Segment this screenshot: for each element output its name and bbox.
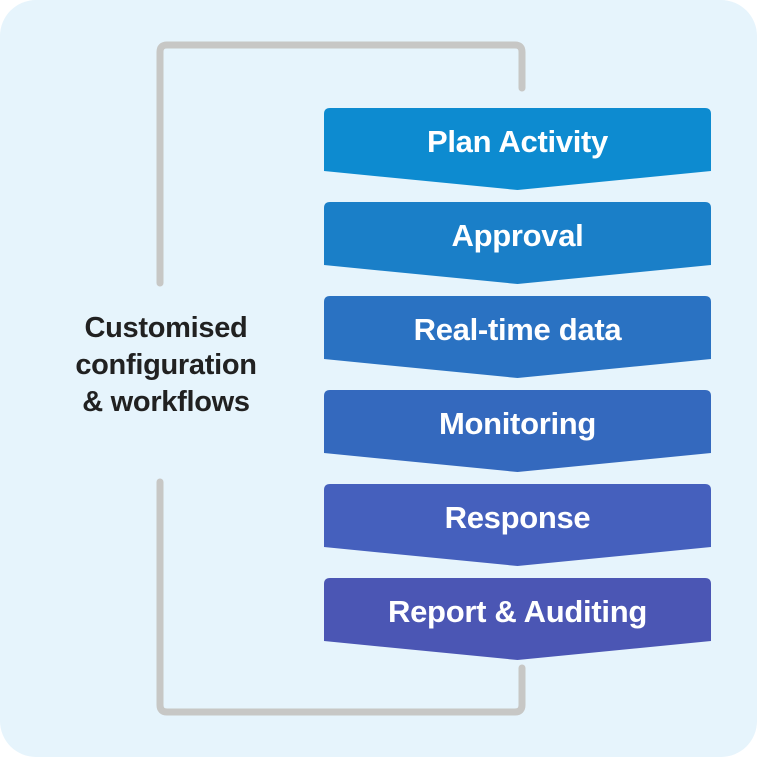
flow-step-label: Plan Activity bbox=[427, 126, 608, 157]
diagram-canvas: Customised configuration & workflows Pla… bbox=[0, 0, 757, 757]
flow-step-plan-activity[interactable]: Plan Activity bbox=[324, 108, 711, 190]
page-title: Customised configuration & workflows bbox=[28, 310, 304, 420]
flow-step-real-time-data[interactable]: Real-time data bbox=[324, 296, 711, 378]
flow-step-report-auditing[interactable]: Report & Auditing bbox=[324, 578, 711, 660]
flow-step-monitoring[interactable]: Monitoring bbox=[324, 390, 711, 472]
flow-step-label: Report & Auditing bbox=[388, 596, 647, 627]
flow-step-approval[interactable]: Approval bbox=[324, 202, 711, 284]
flow-step-label: Real-time data bbox=[414, 314, 622, 345]
flow-step-response[interactable]: Response bbox=[324, 484, 711, 566]
flow-step-label: Approval bbox=[452, 220, 584, 251]
flow-step-label: Monitoring bbox=[439, 408, 596, 439]
flow-step-label: Response bbox=[445, 502, 591, 533]
process-flow-list: Plan Activity Approval Real-time data Mo… bbox=[324, 108, 711, 660]
